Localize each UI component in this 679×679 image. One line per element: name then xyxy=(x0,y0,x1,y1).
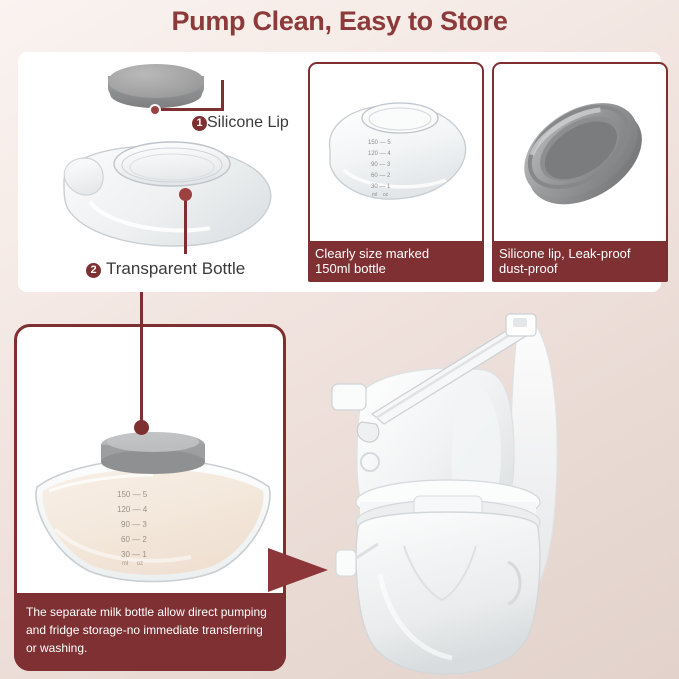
callout-1-label: 1Silicone Lip xyxy=(192,114,289,132)
callout-1-badge: 1 xyxy=(192,116,207,131)
bottom-caption-line1: The separate milk bottle allow direct pu… xyxy=(26,603,274,621)
transparent-bottle-icon xyxy=(322,88,474,206)
scale-units: ml oz xyxy=(372,192,388,198)
panel-right-caption: Silicone lip, Leak-proof dust-proof xyxy=(492,241,668,282)
callout-2-text: Transparent Bottle xyxy=(106,259,245,278)
hero-exploded-view: 1Silicone Lip 2Transparent Bottle xyxy=(18,52,306,292)
scale-mark-30: 30 — 1 xyxy=(371,184,390,190)
panel-mid-artwork: 150 — 5 120 — 4 90 — 3 60 — 2 30 — 1 ml … xyxy=(310,64,482,236)
callout-1-leader-line xyxy=(157,108,224,111)
bottom-feature-panel: 150 — 5 120 — 4 90 — 3 60 — 2 30 — 1 ml … xyxy=(14,324,286,671)
callout-2-leader-line xyxy=(184,192,187,254)
panel-mid-caption: Clearly size marked 150ml bottle xyxy=(308,241,484,282)
page-title: Pump Clean, Easy to Store xyxy=(0,6,679,37)
bottom-panel-caption: The separate milk bottle allow direct pu… xyxy=(14,593,286,671)
bottom-caption-line3: or washing. xyxy=(26,639,274,657)
callout-2-badge: 2 xyxy=(86,263,101,278)
panel-mid-caption-line1: Clearly size marked xyxy=(315,246,478,261)
scale-mark-90: 90 — 3 xyxy=(371,162,390,168)
product-infographic: Pump Clean, Easy to Store xyxy=(0,0,679,679)
callout-2-dot-icon xyxy=(179,188,192,201)
panel-mid-caption-line2: 150ml bottle xyxy=(315,261,478,276)
transparent-bottle-icon xyxy=(56,132,280,252)
scale-mark-150: 150 — 5 xyxy=(117,490,147,499)
silicone-ring-icon xyxy=(504,82,660,222)
callout-1-text: Silicone Lip xyxy=(207,114,289,131)
scale-mark-90: 90 — 3 xyxy=(121,520,147,529)
milk-filled-bottle-icon xyxy=(31,425,275,585)
panel-clearly-size-marked: 150 — 5 120 — 4 90 — 3 60 — 2 30 — 1 ml … xyxy=(308,62,484,282)
callout-1-dot-icon xyxy=(149,104,161,116)
connector-line xyxy=(140,292,143,426)
bottom-caption-line2: and fridge storage-no immediate transfer… xyxy=(26,621,274,639)
scale-mark-30: 30 — 1 xyxy=(121,550,147,559)
callout-2-label: 2Transparent Bottle xyxy=(86,259,245,279)
panel-silicone-lip: Silicone lip, Leak-proof dust-proof xyxy=(492,62,668,282)
silicone-lid-top-icon xyxy=(108,64,204,98)
scale-mark-150: 150 — 5 xyxy=(368,140,391,146)
callout-1-leader-riser xyxy=(221,80,224,111)
scale-mark-60: 60 — 2 xyxy=(121,535,147,544)
panel-right-caption-line1: Silicone lip, Leak-proof xyxy=(499,246,662,261)
scale-units: ml oz xyxy=(122,561,143,567)
breast-pump-icon xyxy=(318,306,668,679)
connector-dot-icon xyxy=(134,420,149,435)
scale-mark-60: 60 — 2 xyxy=(371,173,390,179)
scale-mark-120: 120 — 4 xyxy=(117,505,147,514)
right-arrow-icon xyxy=(268,548,328,592)
panel-right-artwork xyxy=(494,64,666,236)
scale-mark-120: 120 — 4 xyxy=(368,151,391,157)
top-feature-card: 1Silicone Lip 2Transparent Bottle xyxy=(18,52,661,292)
panel-right-caption-line2: dust-proof xyxy=(499,261,662,276)
